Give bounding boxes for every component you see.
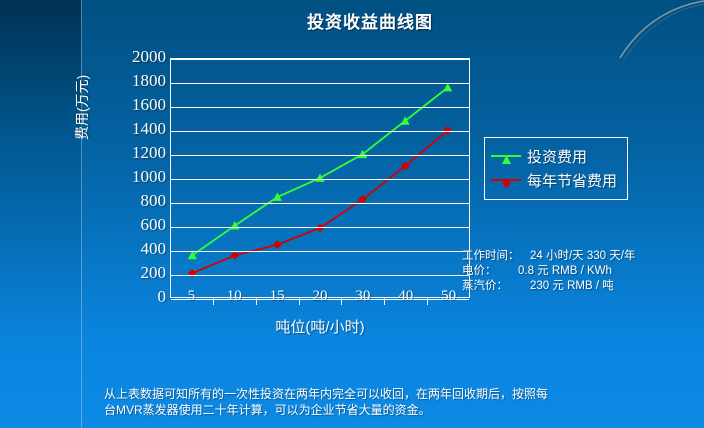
triangle-marker-icon xyxy=(502,151,511,169)
footnote-line-1: 从上表数据可知所有的一次性投资在两年内完全可以收回，在两年回收期后，按照每 xyxy=(104,386,644,402)
y-axis-title: 费用(万元) xyxy=(72,75,92,140)
data-point-marker xyxy=(230,251,239,260)
legend-swatch-red xyxy=(491,174,521,186)
info-key: 蒸汽价： xyxy=(462,279,514,294)
y-axis-tick-label: 1800 xyxy=(100,71,166,91)
y-axis-tick-label: 0 xyxy=(100,287,166,307)
chart-legend: 投资费用 每年节省费用 xyxy=(484,137,628,200)
diamond-marker-icon xyxy=(502,175,511,193)
info-value: 0.8 元 RMB / KWh xyxy=(518,264,612,279)
info-row-steam-price: 蒸汽价： 230 元 RMB / 吨 xyxy=(462,279,635,294)
gridline xyxy=(171,59,469,60)
y-axis-tick-label: 200 xyxy=(100,263,166,283)
data-point-marker xyxy=(230,221,239,229)
y-axis-tick-label: 400 xyxy=(100,239,166,259)
gridline xyxy=(171,83,469,84)
info-row-electricity-price: 电价： 0.8 元 RMB / KWh xyxy=(462,264,635,279)
y-axis-tick-label: 1600 xyxy=(100,95,166,115)
data-point-marker xyxy=(188,269,197,278)
gridline xyxy=(171,155,469,156)
x-axis-tick-label: 15 xyxy=(257,288,297,305)
gridline xyxy=(171,227,469,228)
data-point-marker xyxy=(273,240,282,249)
info-key: 电价： xyxy=(462,264,502,279)
data-point-marker xyxy=(443,83,452,91)
data-point-marker xyxy=(273,192,282,200)
legend-item-annual-saving: 每年节省费用 xyxy=(491,168,617,192)
x-axis-tick-label: 20 xyxy=(300,288,340,305)
info-row-working-time: 工作时间： 24 小时/天 330 天/年 xyxy=(462,249,635,264)
y-axis-tick-label: 2000 xyxy=(100,47,166,67)
legend-swatch-green xyxy=(491,150,521,162)
x-axis-tick-label: 30 xyxy=(343,288,383,305)
info-value: 24 小时/天 330 天/年 xyxy=(530,249,635,264)
investment-return-chart: 2000180016001400120010008006004002000 51… xyxy=(0,0,704,428)
legend-item-investment: 投资费用 xyxy=(491,144,617,168)
y-axis-tick-label: 600 xyxy=(100,215,166,235)
y-axis-tick-label: 1000 xyxy=(100,167,166,187)
y-axis-tick-labels: 2000180016001400120010008006004002000 xyxy=(98,58,166,298)
gridline xyxy=(171,251,469,252)
y-axis-tick-label: 1200 xyxy=(100,143,166,163)
y-axis-tick-label: 800 xyxy=(100,191,166,211)
gridline xyxy=(171,275,469,276)
x-axis-tick-label: 10 xyxy=(214,288,254,305)
x-axis-tick-label: 5 xyxy=(171,288,211,305)
legend-label: 每年节省费用 xyxy=(527,170,617,191)
x-axis-tick-labels: 5101520304050 xyxy=(170,288,470,312)
footnote-paragraph: 从上表数据可知所有的一次性投资在两年内完全可以收回，在两年回收期后，按照每 台M… xyxy=(104,386,644,418)
y-axis-tick-label: 1400 xyxy=(100,119,166,139)
gridline xyxy=(171,131,469,132)
plot-area xyxy=(170,58,470,298)
x-axis-tick-label: 40 xyxy=(386,288,426,305)
assumptions-info-block: 工作时间： 24 小时/天 330 天/年 电价： 0.8 元 RMB / KW… xyxy=(462,249,635,294)
x-axis-title: 吨位(吨/小时) xyxy=(170,316,470,337)
info-value: 230 元 RMB / 吨 xyxy=(530,279,614,294)
gridline xyxy=(171,179,469,180)
footnote-line-2: 台MVR蒸发器使用二十年计算，可以为企业节省大量的资金。 xyxy=(104,402,644,418)
legend-label: 投资费用 xyxy=(527,146,587,167)
gridline xyxy=(171,107,469,108)
gridline xyxy=(171,203,469,204)
info-key: 工作时间： xyxy=(462,249,524,264)
